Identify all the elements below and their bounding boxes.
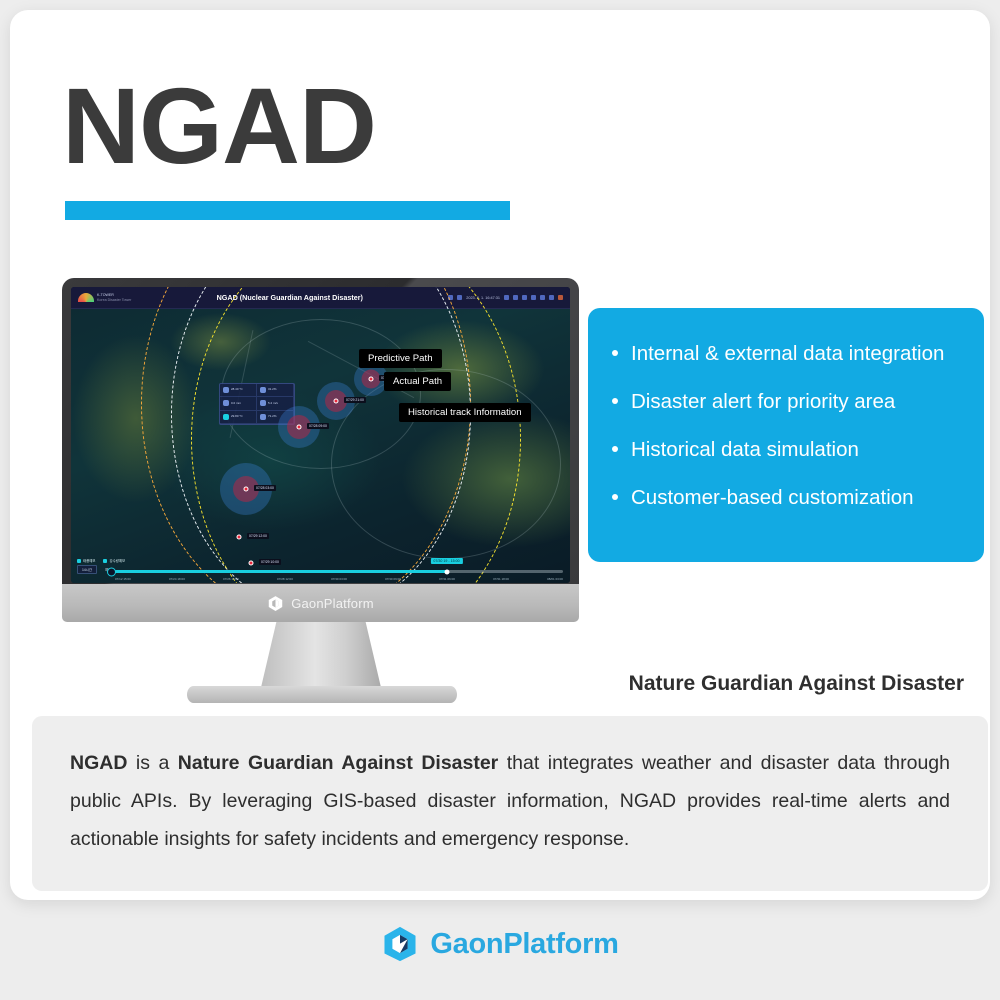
timeline-ticks: 07/12 15:00 07/24 18:00 07/26 15:00 07/2… [115,577,563,581]
page-title: NGAD [62,72,376,180]
monitor-screen: K-TOWER Korea Disaster Tower NGAD (Nucle… [71,287,570,583]
cyclone-core [369,377,374,382]
window-icon[interactable] [549,295,554,300]
gaon-hexagon-logo-icon [381,925,419,963]
cyclone-core [237,535,242,540]
forecast-range-select[interactable]: 14시간 [77,565,97,574]
timeline-tick: 07/31 18:00 [493,577,509,581]
cyclone-time-label: 07/28 03:00 [254,485,276,491]
layers-icon[interactable] [513,295,518,300]
legend-label: 태풍예보 [83,558,95,563]
cyclone-time-label: 07/28 09:00 [307,423,329,429]
monitor-stand-neck [259,622,383,696]
timeline-tick: 07/26 15:00 [223,577,239,581]
feature-item: Historical data simulation [612,438,984,461]
timeline-play-button[interactable] [107,567,116,576]
title-underline-rule [65,201,510,220]
hero-title-text: NGAD [62,72,376,180]
cyclone-time-label: 07/29 10:00 [259,559,281,565]
cyclone-time-label: 07/29 12:00 [247,533,269,539]
timeline-tick: 07/12 15:00 [115,577,131,581]
monitor-brand-bar: GaonPlatform [62,584,579,622]
features-panel: Internal & external data integration Dis… [588,308,984,562]
legend-item[interactable]: 강수량예보 [103,558,125,563]
gaon-hexagon-logo-icon [267,595,284,612]
feature-item: Customer-based customization [612,486,984,509]
legend-item[interactable]: 태풍예보 [77,558,95,563]
map-legend: 태풍예보 강수량예보 [77,558,125,563]
cyclone-core [249,561,254,566]
callout-actual-path: Actual Path [384,372,451,391]
org-name-block: K-TOWER Korea Disaster Tower [97,293,131,302]
description-paragraph: NGAD is a Nature Guardian Against Disast… [70,744,950,858]
timeline-tick: 07/24 18:00 [169,577,185,581]
description-panel: NGAD is a Nature Guardian Against Disast… [32,716,988,891]
main-card: NGAD K-TOWER Korea Disaster Tower [10,10,990,900]
timeline-progress [115,570,447,573]
power-icon[interactable] [558,295,563,300]
cyclone-time-label: 07/29 21:00 [344,397,366,403]
timeline-tick: 07/30 09:00 [385,577,401,581]
cyclone-core [334,399,339,404]
legend-swatch-icon [103,559,107,563]
feature-label: Historical data simulation [631,438,859,461]
timeline-tick: 08/01 03:00 [547,577,563,581]
timeline-tick: 07/31 06:00 [439,577,455,581]
map-canvas[interactable]: 28.40 °C 31.2% 0.0 mm [71,309,570,583]
bullet-icon [612,350,618,356]
monitor-stand-base [187,686,457,703]
feature-item: Internal & external data integration [612,342,984,365]
filter-icon[interactable] [504,295,509,300]
description-bold-phrase: Nature Guardian Against Disaster [178,752,499,774]
bullet-icon [612,494,618,500]
bookmark-icon[interactable] [540,295,545,300]
timeline-scrubber[interactable]: 07/30 19 - 15:00 [115,570,563,573]
feature-label: Customer-based customization [631,486,914,509]
org-logo: K-TOWER Korea Disaster Tower [78,293,131,302]
bullet-icon [612,398,618,404]
description-lead: NGAD [70,752,127,774]
monitor-mockup: K-TOWER Korea Disaster Tower NGAD (Nucle… [62,278,582,690]
monitor-bezel: K-TOWER Korea Disaster Tower NGAD (Nucle… [62,278,579,590]
feature-label: Internal & external data integration [631,342,944,365]
cyclone-core [244,487,249,492]
footer: GaonPlatform [0,925,1000,963]
org-sub: Korea Disaster Tower [97,298,131,303]
alert-icon[interactable] [531,295,536,300]
feature-item: Disaster alert for priority area [612,390,984,413]
callout-historical-track: Historical track Information [399,403,531,422]
timeline-badge: 07/30 19 - 15:00 [430,558,462,564]
footer-brand-label: GaonPlatform [430,928,618,961]
description-mid: is a [127,752,177,774]
timeline-tick: 07/28 12:00 [277,577,293,581]
gear-icon[interactable] [522,295,527,300]
k-tower-rainbow-icon [78,293,94,302]
poster-page: NGAD K-TOWER Korea Disaster Tower [0,0,1000,1000]
monitor-brand-label: GaonPlatform [291,596,374,611]
timeline-handle[interactable] [444,569,449,574]
cyclone-core [297,425,302,430]
feature-label: Disaster alert for priority area [631,390,895,413]
legend-label: 강수량예보 [109,558,125,563]
legend-swatch-icon [77,559,81,563]
tagline: Nature Guardian Against Disaster [629,672,964,696]
callout-predictive-path: Predictive Path [359,349,442,368]
bullet-icon [612,446,618,452]
timeline-tick: 07/30 03:00 [331,577,347,581]
